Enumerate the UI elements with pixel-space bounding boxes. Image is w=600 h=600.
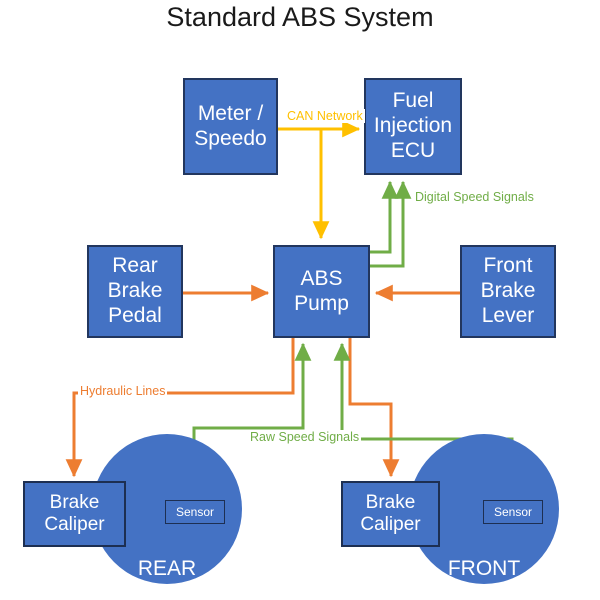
box-rear-brake-caliper[interactable]: Brake Caliper — [23, 481, 126, 547]
front-wheel-label: FRONT — [409, 557, 559, 581]
label-hydraulic-lines: Hydraulic Lines — [78, 384, 167, 398]
label-can-network: CAN Network — [285, 109, 365, 123]
rear-wheel-label: REAR — [92, 557, 242, 581]
edge-digital-speed-signals — [370, 182, 403, 266]
box-rear-brake-pedal[interactable]: Rear Brake Pedal — [87, 245, 183, 338]
label-raw-speed-signals: Raw Speed Signals — [248, 430, 361, 444]
box-fuel-injection-ecu[interactable]: Fuel Injection ECU — [364, 78, 462, 175]
edge-hydraulic-front — [350, 338, 391, 476]
label-digital-speed-signals: Digital Speed Signals — [413, 190, 536, 204]
abs-system-diagram: Standard ABS System — [0, 0, 600, 600]
box-front-brake-caliper[interactable]: Brake Caliper — [341, 481, 440, 547]
rear-wheel-speed-sensor[interactable]: Sensor — [165, 500, 225, 524]
box-meter-speedo[interactable]: Meter / Speedo — [183, 78, 278, 175]
box-front-brake-lever[interactable]: Front Brake Lever — [460, 245, 556, 338]
box-abs-pump[interactable]: ABS Pump — [273, 245, 370, 338]
front-wheel-speed-sensor[interactable]: Sensor — [483, 500, 543, 524]
